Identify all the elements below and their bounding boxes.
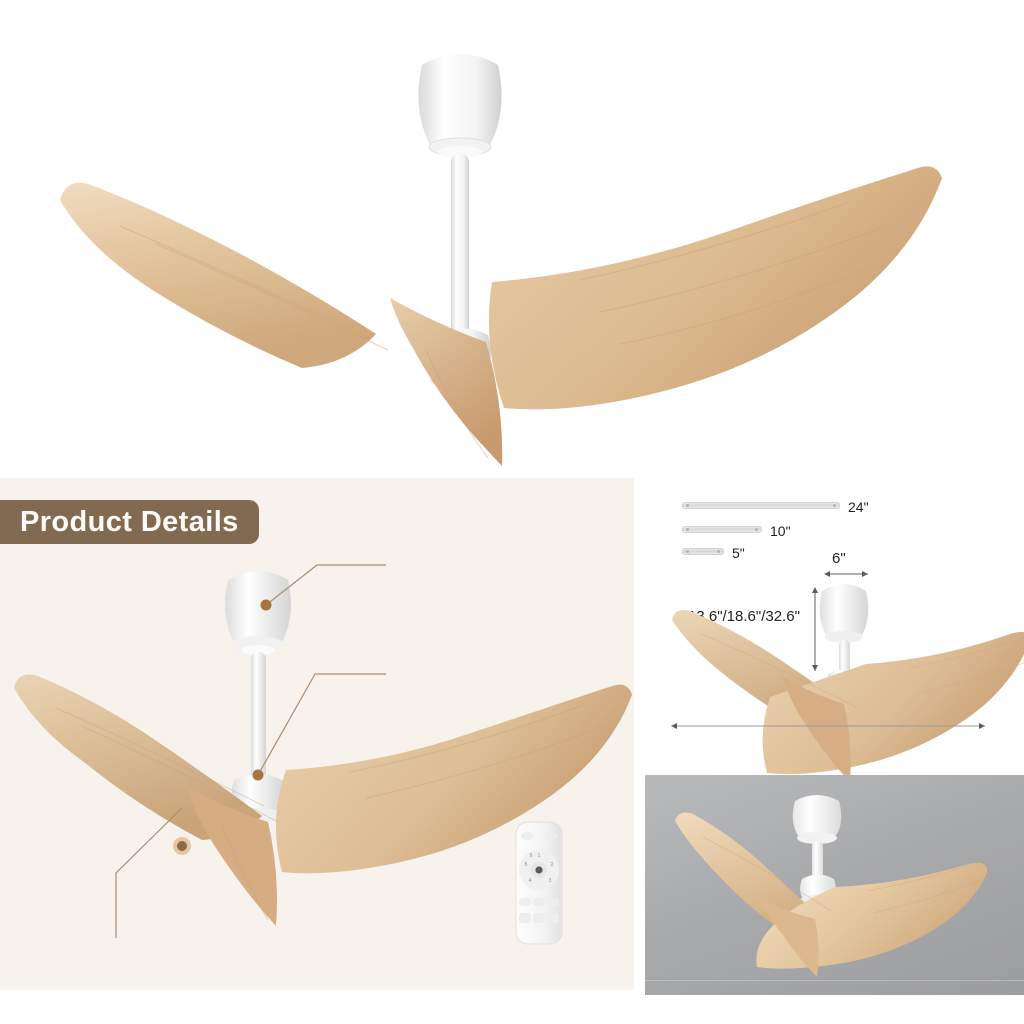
fan-blade-right bbox=[489, 166, 942, 409]
svg-text:1: 1 bbox=[538, 853, 541, 859]
remote-timer-buttons bbox=[519, 898, 559, 906]
svg-text:6: 6 bbox=[530, 853, 533, 859]
remote-power-button bbox=[521, 832, 533, 840]
remote-function-buttons bbox=[519, 913, 559, 923]
callout-dot-motor bbox=[253, 770, 264, 781]
canopy bbox=[418, 54, 501, 158]
downrod bbox=[451, 154, 469, 344]
svg-text:3: 3 bbox=[549, 878, 552, 884]
dimensions-panel: 24" 10" 5" 6" 13.6"/18.6"/32.6" 52" bbox=[640, 478, 1024, 768]
remote-speed-dial: 123 456 bbox=[519, 850, 559, 890]
hero-fan-illustration bbox=[60, 30, 960, 410]
product-detail-page: Product Details bbox=[0, 0, 1024, 1024]
remote-control-illustration: 123 456 bbox=[506, 818, 572, 948]
callout-dot-canopy bbox=[261, 600, 272, 611]
dimension-diagram bbox=[640, 478, 1024, 768]
dimension-fan bbox=[672, 584, 1024, 782]
product-details-panel: Product Details bbox=[0, 478, 634, 990]
remote-light-button bbox=[545, 832, 557, 840]
fan-blade-left bbox=[60, 183, 376, 368]
svg-text:2: 2 bbox=[551, 862, 554, 868]
hero-image bbox=[0, 0, 1024, 470]
fan-blade-front bbox=[390, 298, 502, 466]
photo-canopy bbox=[793, 795, 842, 844]
installed-photo-panel bbox=[645, 775, 1024, 995]
svg-text:4: 4 bbox=[529, 878, 532, 884]
svg-text:5: 5 bbox=[525, 862, 528, 868]
installed-fan-illustration bbox=[645, 775, 1024, 995]
